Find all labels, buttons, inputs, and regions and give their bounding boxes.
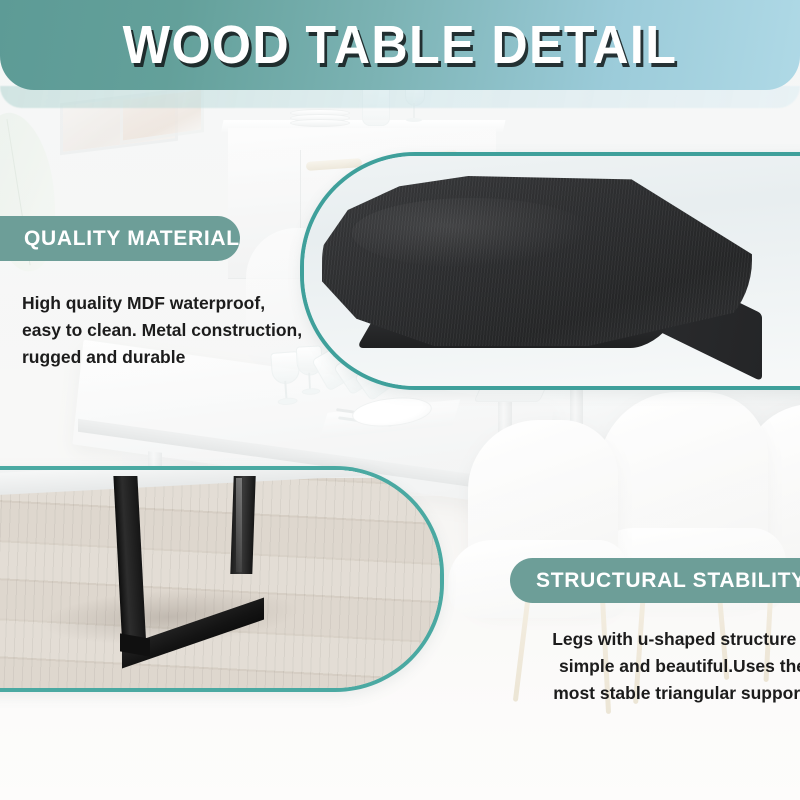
- copy-stability-line-1: Legs with u-shaped structure ,: [506, 626, 800, 653]
- badge-structural-stability-label: STRUCTURAL STABILITY: [536, 569, 800, 593]
- copy-quality-line-3: rugged and durable: [22, 344, 352, 371]
- wood-floor: [0, 470, 440, 688]
- u-leg-right-post: [230, 476, 255, 574]
- copy-quality-material: High quality MDF waterproof, easy to cle…: [22, 290, 352, 371]
- plate-stack: [290, 109, 350, 125]
- tabletop-surface: [322, 176, 752, 346]
- copy-quality-line-1: High quality MDF waterproof,: [22, 290, 352, 317]
- infographic-canvas: WOOD TABLE DETAIL QUALITY MATERIAL High …: [0, 0, 800, 800]
- copy-quality-line-2: easy to clean. Metal construction,: [22, 317, 352, 344]
- tabletop-detail-panel: [300, 152, 800, 390]
- tabletop-gloss-highlight: [352, 198, 592, 268]
- page-title: WOOD TABLE DETAIL: [28, 14, 772, 76]
- black-mdf-tabletop-image: [322, 176, 752, 366]
- badge-quality-material: QUALITY MATERIAL: [0, 216, 240, 261]
- copy-stability-line-2: simple and beautiful.Uses the: [506, 653, 800, 680]
- copy-stability-line-3: most stable triangular support: [506, 680, 800, 707]
- table-leg-detail-panel: [0, 466, 444, 692]
- copy-structural-stability: Legs with u-shaped structure , simple an…: [506, 626, 800, 707]
- badge-quality-material-label: QUALITY MATERIAL: [24, 227, 240, 251]
- badge-structural-stability: STRUCTURAL STABILITY: [510, 558, 800, 603]
- header-banner: WOOD TABLE DETAIL: [0, 0, 800, 90]
- u-leg-highlight: [236, 478, 242, 572]
